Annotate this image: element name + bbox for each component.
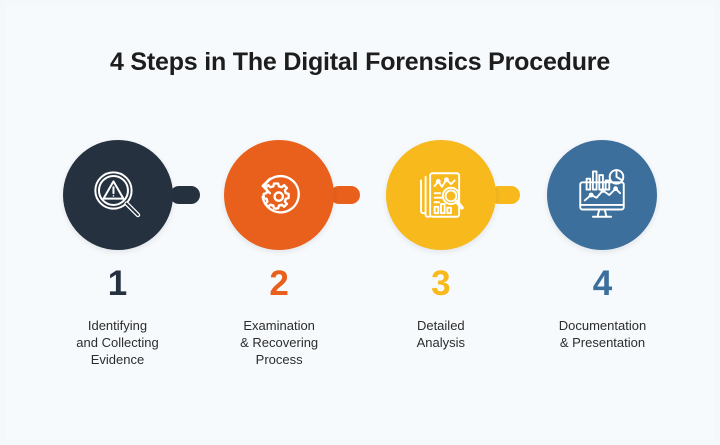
step-4-circle[interactable] bbox=[547, 140, 657, 250]
step-1-caption: Identifying and Collecting Evidence bbox=[43, 317, 193, 368]
page-title: 4 Steps in The Digital Forensics Procedu… bbox=[0, 48, 720, 77]
step-1-circle[interactable] bbox=[63, 140, 173, 250]
step-4-number: 4 bbox=[593, 266, 612, 301]
step-1-number: 1 bbox=[108, 266, 127, 301]
report-magnifier-icon bbox=[412, 166, 470, 224]
step-4-caption: Documentation & Presentation bbox=[527, 317, 677, 351]
magnifier-warning-icon bbox=[89, 166, 147, 224]
step-1[interactable]: 1 Identifying and Collecting Evidence bbox=[45, 140, 190, 368]
step-2-number: 2 bbox=[269, 266, 288, 301]
steps-row: 1 Identifying and Collecting Evidence 2 … bbox=[45, 140, 675, 400]
step-3[interactable]: 3 Detailed Analysis bbox=[368, 140, 513, 351]
infographic-canvas: 4 Steps in The Digital Forensics Procedu… bbox=[0, 0, 720, 445]
step-2[interactable]: 2 Examination & Recovering Process bbox=[207, 140, 352, 368]
step-3-circle[interactable] bbox=[386, 140, 496, 250]
step-3-caption: Detailed Analysis bbox=[366, 317, 516, 351]
monitor-charts-icon bbox=[573, 166, 631, 224]
step-4[interactable]: 4 Documentation & Presentation bbox=[530, 140, 675, 351]
step-2-circle[interactable] bbox=[224, 140, 334, 250]
gear-refresh-icon bbox=[250, 166, 308, 224]
step-2-caption: Examination & Recovering Process bbox=[204, 317, 354, 368]
step-3-number: 3 bbox=[431, 266, 450, 301]
